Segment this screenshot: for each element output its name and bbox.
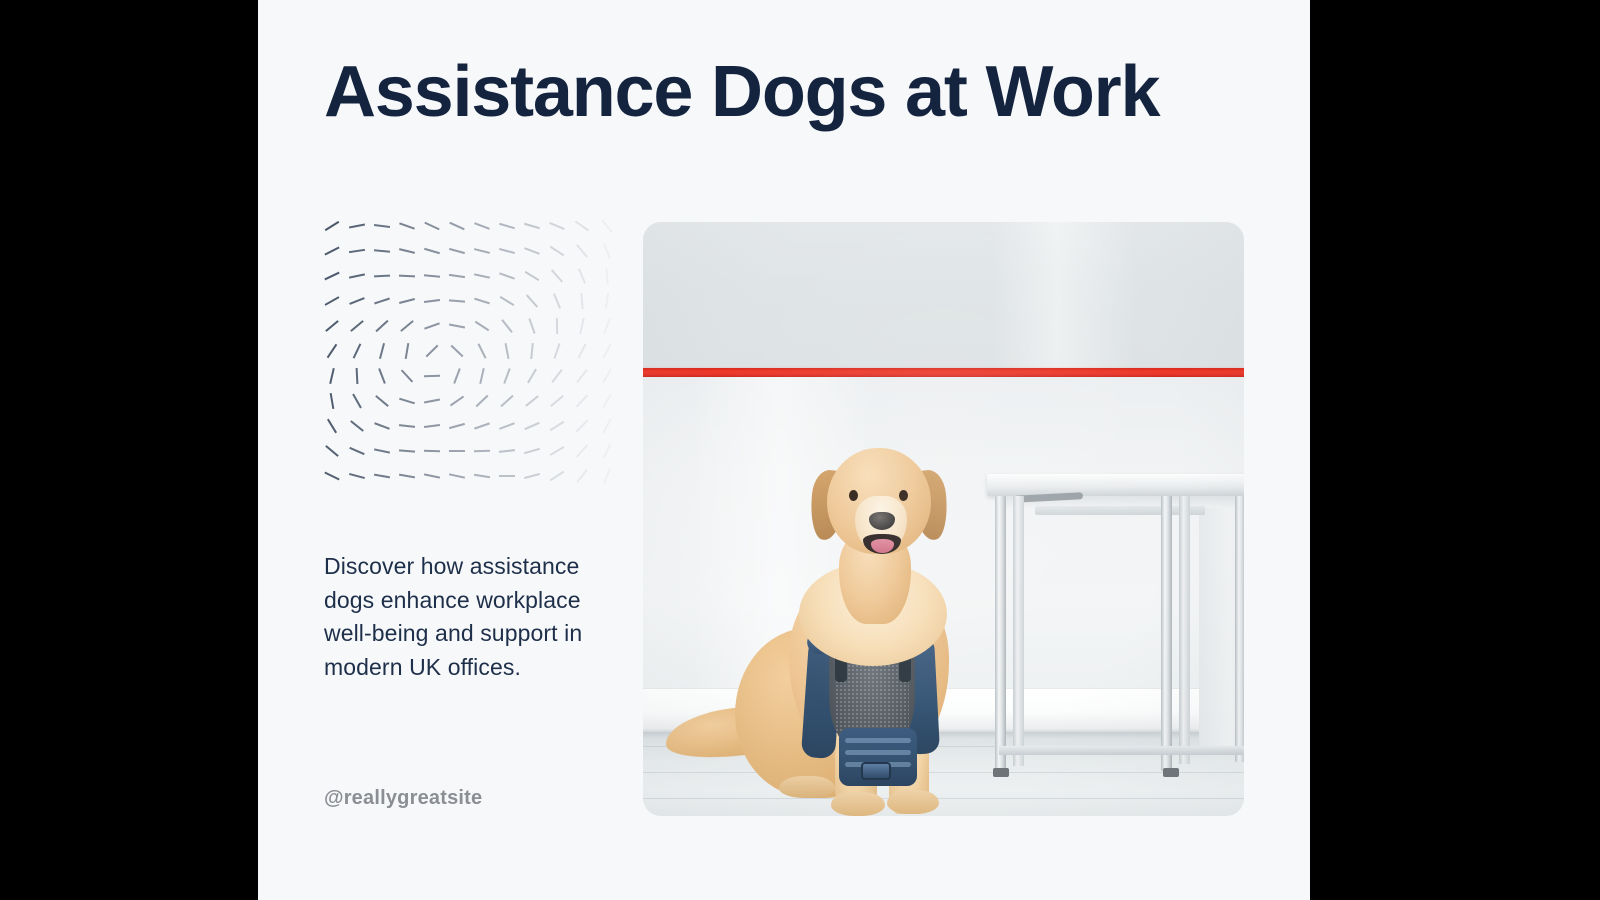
pattern-dash — [606, 268, 608, 284]
pattern-dash — [554, 343, 559, 358]
pattern-dash — [379, 369, 385, 384]
photo-scene — [643, 222, 1244, 816]
pattern-dash — [424, 275, 440, 276]
pattern-dash — [524, 224, 539, 229]
pattern-dash — [552, 270, 563, 282]
pattern-dash — [603, 394, 611, 408]
pattern-dash — [328, 419, 336, 433]
pattern-dash — [406, 343, 409, 359]
pattern-dash — [449, 275, 465, 277]
pattern-dash — [577, 395, 588, 407]
pattern-dash — [353, 394, 361, 408]
pattern-dash — [550, 223, 565, 229]
pattern-dash — [399, 450, 415, 451]
pattern-dash — [399, 399, 414, 404]
pattern-dash — [604, 444, 610, 459]
pattern-dash — [528, 369, 536, 383]
pattern-dash — [424, 400, 440, 403]
pattern-dash — [550, 447, 564, 455]
pattern-dash — [551, 396, 563, 406]
assistance-dog — [743, 442, 983, 816]
pattern-dash — [350, 298, 365, 304]
pattern-dash — [578, 344, 585, 358]
pattern-dash — [606, 293, 608, 309]
pattern-dash — [581, 293, 582, 309]
pattern-dash — [525, 423, 540, 429]
pattern-dash — [399, 299, 414, 303]
pattern-dash — [374, 276, 390, 277]
pattern-dash — [374, 449, 390, 452]
screenshot-stage: Assistance Dogs at Work Discover how ass… — [0, 0, 1600, 900]
pattern-dash — [527, 295, 538, 307]
pattern-dash — [354, 344, 361, 358]
pattern-dash — [474, 475, 490, 478]
pattern-dash — [449, 300, 465, 301]
pattern-dash — [351, 321, 363, 331]
pattern-dash — [351, 421, 363, 431]
pattern-dash — [350, 448, 365, 454]
pattern-dash — [325, 222, 339, 230]
pattern-dash — [450, 396, 463, 405]
pattern-dash — [449, 325, 465, 328]
pattern-dash — [550, 472, 563, 481]
pattern-dash — [577, 470, 587, 483]
pattern-dash — [325, 297, 339, 305]
pattern-dash — [326, 446, 338, 456]
pattern-dash — [474, 249, 490, 253]
red-accent-stripe — [643, 368, 1244, 377]
pattern-dash — [424, 249, 439, 254]
dog-front-paw-right — [887, 790, 939, 814]
pattern-dash — [603, 369, 611, 383]
pattern-dash — [399, 425, 415, 427]
pattern-dash — [451, 345, 463, 356]
pattern-dash — [499, 273, 514, 278]
lede-paragraph: Discover how assistance dogs enhance wor… — [324, 550, 616, 684]
pattern-dash — [577, 245, 587, 257]
pattern-dash — [474, 423, 489, 428]
pattern-dash — [424, 425, 440, 427]
pattern-dash — [501, 396, 513, 407]
dog-eye-left — [849, 490, 858, 501]
pattern-dash — [374, 225, 390, 227]
pattern-dash — [603, 419, 610, 433]
pattern-dash — [604, 244, 610, 259]
pattern-dash — [506, 343, 509, 359]
pattern-dash — [499, 224, 514, 229]
pattern-dash — [349, 274, 365, 277]
pattern-dash — [526, 396, 539, 406]
pattern-dash — [401, 321, 413, 331]
pattern-dash — [604, 318, 610, 333]
pattern-dash — [524, 474, 540, 478]
pattern-dash — [525, 272, 539, 280]
pattern-dash — [399, 249, 415, 253]
pattern-dash — [475, 223, 490, 229]
pattern-dash — [575, 221, 588, 230]
pattern-dash — [425, 223, 440, 230]
dog-eye-right — [899, 490, 908, 501]
pattern-dash — [426, 345, 437, 356]
pattern-dash — [474, 299, 489, 304]
pattern-dash — [603, 344, 610, 358]
pattern-dash — [552, 370, 562, 383]
pattern-dash — [474, 274, 490, 277]
pattern-dash — [374, 475, 390, 478]
pattern-dash — [602, 220, 612, 233]
pattern-dash — [449, 474, 465, 477]
pattern-dash — [580, 318, 584, 334]
pattern-dash — [450, 223, 465, 230]
pattern-dash — [374, 299, 389, 304]
pattern-dash — [424, 474, 440, 477]
pattern-dash — [499, 249, 514, 253]
dog-back-paw — [779, 776, 835, 798]
pattern-dash — [604, 469, 610, 484]
pattern-dash — [529, 318, 534, 333]
pattern-dash — [399, 276, 415, 277]
pattern-dash — [375, 423, 390, 429]
pattern-dash — [525, 248, 540, 254]
pattern-dash — [449, 424, 464, 428]
harness-buckle — [861, 762, 891, 780]
pattern-dash — [331, 393, 334, 409]
pattern-dash — [349, 224, 365, 227]
pattern-dash — [550, 247, 563, 256]
pattern-dash — [326, 321, 338, 331]
pattern-dash — [531, 343, 533, 359]
pattern-dash — [424, 323, 439, 328]
pattern-dash — [478, 344, 485, 358]
pattern-dash — [576, 420, 587, 432]
pattern-dash — [399, 475, 415, 478]
pattern-dash — [454, 369, 460, 384]
pattern-dash — [357, 368, 358, 384]
pattern-dash — [499, 450, 515, 452]
pattern-dash — [579, 269, 585, 284]
office-desk — [973, 474, 1244, 784]
pattern-dash — [380, 343, 384, 358]
pattern-dash — [330, 368, 334, 384]
pattern-dash — [374, 250, 390, 252]
wall-upper — [643, 222, 1244, 368]
dog-front-paw-left — [831, 792, 885, 816]
pattern-dash — [376, 321, 388, 332]
pattern-dash — [550, 422, 564, 431]
pattern-dash — [577, 445, 588, 457]
pattern-dash — [504, 369, 510, 384]
pattern-dash — [402, 370, 413, 382]
pattern-dash — [474, 451, 490, 452]
pattern-dash — [475, 322, 488, 331]
pattern-dash — [476, 395, 488, 406]
pattern-dash — [349, 250, 365, 252]
pattern-dash — [577, 370, 587, 383]
dash-field-pattern — [324, 212, 616, 490]
pattern-dash — [480, 368, 484, 384]
pattern-dash — [399, 223, 414, 228]
pattern-dash — [554, 294, 560, 309]
pattern-dash — [376, 396, 388, 406]
pattern-dash — [424, 300, 440, 302]
page-title: Assistance Dogs at Work — [324, 56, 1159, 129]
pattern-dash — [325, 473, 339, 480]
pattern-dash — [328, 344, 337, 357]
pattern-dash — [325, 247, 339, 254]
social-handle: @reallygreatsite — [324, 787, 482, 810]
pattern-dash — [500, 423, 515, 429]
pattern-dash — [502, 320, 512, 333]
pattern-dash — [325, 273, 339, 280]
pattern-dash — [349, 474, 364, 478]
pattern-dash — [449, 249, 464, 253]
pattern-dash — [524, 449, 539, 453]
slide-canvas: Assistance Dogs at Work Discover how ass… — [258, 0, 1310, 900]
hero-photo — [643, 222, 1244, 816]
pattern-dash — [500, 297, 514, 305]
